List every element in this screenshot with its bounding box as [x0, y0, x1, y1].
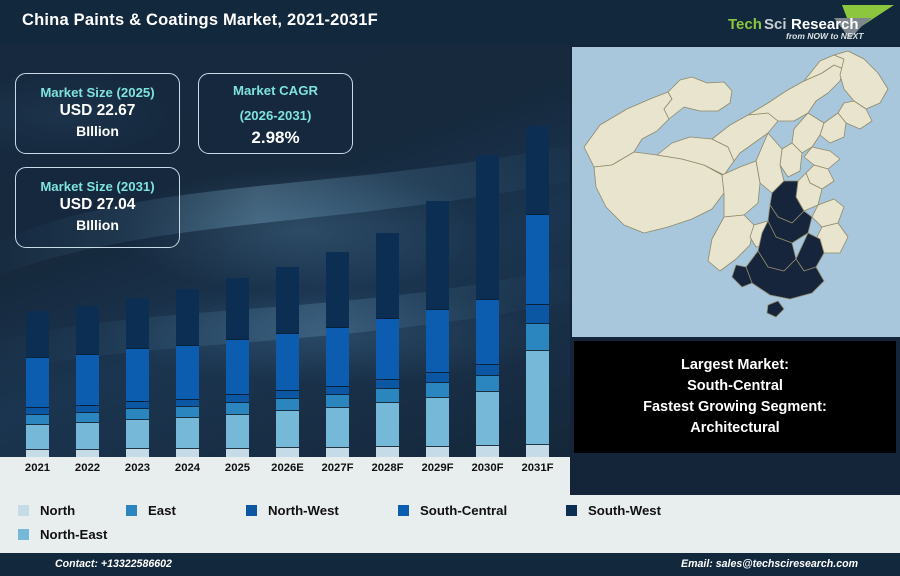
- legend-label: North-East: [40, 527, 107, 542]
- bar-2021: [26, 311, 49, 457]
- footer-email: Email: sales@techsciresearch.com: [681, 558, 858, 570]
- legend-item-east[interactable]: East: [126, 503, 246, 518]
- bar-segment-south-west: [276, 267, 299, 333]
- techsci-research-logo: Tech Sci Research from NOW to NEXT: [722, 2, 897, 43]
- bar-segment-east: [76, 412, 99, 422]
- province-shandong: [804, 147, 840, 169]
- stacked-bar-chart: [0, 45, 570, 457]
- bar-2031F: [526, 126, 549, 457]
- bar-segment-north: [326, 447, 349, 457]
- logo-text-sci: Sci: [764, 16, 787, 33]
- bar-segment-north-east: [26, 424, 49, 449]
- logo-text-tech: Tech: [728, 16, 762, 33]
- bar-segment-south-central: [226, 339, 249, 394]
- china-map: [572, 47, 900, 337]
- bar-segment-north-west: [326, 386, 349, 394]
- bar-2026E: [276, 267, 299, 457]
- bar-segment-east: [376, 388, 399, 402]
- province-xinjiang-north: [664, 77, 732, 119]
- legend-swatch-icon: [18, 505, 29, 516]
- bar-segment-south-central: [176, 345, 199, 399]
- legend-label: South-Central: [420, 503, 507, 518]
- province-inner-mongolia-west: [748, 65, 844, 121]
- province-yunnan: [708, 215, 754, 271]
- bar-segment-north-west: [526, 304, 549, 323]
- bar-segment-south-west: [376, 233, 399, 318]
- bar-segment-north: [126, 448, 149, 457]
- bar-segment-south-west: [326, 252, 349, 327]
- x-axis-label-2030F: 2030F: [463, 462, 513, 474]
- bar-segment-north: [276, 447, 299, 457]
- legend-swatch-icon: [18, 529, 29, 540]
- bar-segment-east: [26, 414, 49, 424]
- bar-segment-south-central: [26, 357, 49, 407]
- bar-segment-north: [476, 445, 499, 457]
- bar-segment-east: [526, 323, 549, 350]
- bar-segment-north-west: [176, 399, 199, 406]
- chart-panel: Market Size (2025) USD 22.67 BIllion Mar…: [0, 45, 570, 457]
- legend-swatch-icon: [566, 505, 577, 516]
- bar-segment-north: [26, 449, 49, 457]
- legend-swatch-icon: [246, 505, 257, 516]
- bar-2022: [76, 306, 99, 457]
- legend-label: North-West: [268, 503, 339, 518]
- bar-segment-north-west: [476, 364, 499, 375]
- x-axis-label-2029F: 2029F: [413, 462, 463, 474]
- bar-segment-north-west: [276, 390, 299, 398]
- bar-segment-north-east: [326, 407, 349, 447]
- x-axis-label-2025: 2025: [213, 462, 263, 474]
- bar-2028F: [376, 233, 399, 457]
- x-axis-label-2026E: 2026E: [263, 462, 313, 474]
- header-bar: China Paints & Coatings Market, 2021-203…: [0, 0, 900, 45]
- infographic-page: China Paints & Coatings Market, 2021-203…: [0, 0, 900, 576]
- page-title: China Paints & Coatings Market, 2021-203…: [22, 11, 378, 30]
- bar-segment-north-west: [76, 405, 99, 412]
- legend-item-north-east[interactable]: North-East: [18, 527, 168, 542]
- bar-segment-north-east: [476, 391, 499, 445]
- footer-contact: Contact: +13322586602: [55, 558, 172, 570]
- bar-segment-north-west: [126, 401, 149, 408]
- bar-2025: [226, 278, 249, 457]
- bar-segment-north: [376, 446, 399, 457]
- bar-segment-south-west: [226, 278, 249, 339]
- bar-segment-north-east: [276, 410, 299, 447]
- bar-segment-north-east: [426, 397, 449, 446]
- legend-row-primary: NorthEastNorth-WestSouth-CentralSouth-We…: [18, 503, 900, 518]
- callout-line-2: South-Central: [687, 376, 783, 397]
- chart-legend: NorthEastNorth-WestSouth-CentralSouth-We…: [0, 495, 900, 553]
- bar-segment-south-central: [476, 299, 499, 364]
- bar-segment-south-central: [376, 318, 399, 379]
- x-axis-label-2024: 2024: [163, 462, 213, 474]
- bar-segment-north: [76, 449, 99, 457]
- bar-2027F: [326, 252, 349, 457]
- legend-item-north[interactable]: North: [18, 503, 126, 518]
- legend-label: East: [148, 503, 176, 518]
- bar-segment-north-west: [426, 372, 449, 382]
- bar-segment-east: [126, 408, 149, 419]
- province-hainan-highlight: [767, 301, 784, 317]
- legend-swatch-icon: [398, 505, 409, 516]
- bar-segment-north-west: [376, 379, 399, 388]
- province-liaoning: [820, 113, 846, 143]
- x-axis-label-2031F: 2031F: [513, 462, 563, 474]
- bar-segment-south-central: [276, 333, 299, 390]
- bar-segment-south-west: [76, 306, 99, 354]
- bar-segment-east: [426, 382, 449, 397]
- bar-segment-south-west: [26, 311, 49, 357]
- legend-label: South-West: [588, 503, 661, 518]
- bar-segment-south-west: [126, 298, 149, 348]
- bar-segment-east: [226, 402, 249, 414]
- bar-segment-north-west: [226, 394, 249, 402]
- legend-row-secondary: North-East: [18, 527, 900, 542]
- bar-2023: [126, 298, 149, 457]
- bar-segment-north-east: [76, 422, 99, 449]
- bar-segment-north: [526, 444, 549, 457]
- legend-item-north-west[interactable]: North-West: [246, 503, 398, 518]
- bar-segment-south-west: [476, 155, 499, 299]
- bar-segment-east: [326, 394, 349, 407]
- bar-segment-east: [476, 375, 499, 391]
- bar-segment-north: [226, 448, 249, 457]
- bar-segment-south-central: [326, 327, 349, 386]
- bar-segment-south-central: [76, 354, 99, 405]
- china-map-svg: [572, 47, 900, 337]
- bar-segment-north-east: [226, 414, 249, 448]
- x-axis-label-2023: 2023: [113, 462, 163, 474]
- legend-item-south-central[interactable]: South-Central: [398, 503, 566, 518]
- x-axis-label-2022: 2022: [63, 462, 113, 474]
- bar-segment-north-east: [526, 350, 549, 444]
- bar-2029F: [426, 201, 449, 457]
- logo-svg: Tech Sci Research from NOW to NEXT: [722, 2, 897, 43]
- x-axis-label-2027F: 2027F: [313, 462, 363, 474]
- bar-2024: [176, 289, 199, 457]
- bar-segment-north-east: [176, 417, 199, 448]
- legend-label: North: [40, 503, 75, 518]
- callout-line-4: Architectural: [690, 418, 779, 439]
- bar-segment-south-west: [176, 289, 199, 345]
- bar-segment-south-west: [426, 201, 449, 309]
- callout-line-1: Largest Market:: [681, 355, 789, 376]
- x-axis-labels: 202120222023202420252026E2027F2028F2029F…: [0, 457, 570, 495]
- bar-segment-south-central: [426, 309, 449, 372]
- x-axis-label-2028F: 2028F: [363, 462, 413, 474]
- bar-segment-north-east: [126, 419, 149, 448]
- bar-segment-north: [426, 446, 449, 457]
- logo-tagline: from NOW to NEXT: [786, 31, 864, 41]
- footer-bar: Contact: +13322586602 Email: sales@techs…: [0, 553, 900, 576]
- bar-segment-north: [176, 448, 199, 457]
- bar-segment-north-west: [26, 407, 49, 414]
- bar-segment-south-central: [526, 214, 549, 304]
- bar-segment-north-east: [376, 402, 399, 446]
- summary-callout: Largest Market: South-Central Fastest Gr…: [574, 341, 896, 453]
- callout-line-3: Fastest Growing Segment:: [643, 397, 827, 418]
- bar-segment-south-central: [126, 348, 149, 401]
- bar-segment-south-west: [526, 126, 549, 214]
- x-axis-label-2021: 2021: [13, 462, 63, 474]
- legend-swatch-icon: [126, 505, 137, 516]
- bar-segment-east: [176, 406, 199, 417]
- bar-segment-east: [276, 398, 299, 410]
- bar-2030F: [476, 155, 499, 457]
- legend-item-south-west[interactable]: South-West: [566, 503, 716, 518]
